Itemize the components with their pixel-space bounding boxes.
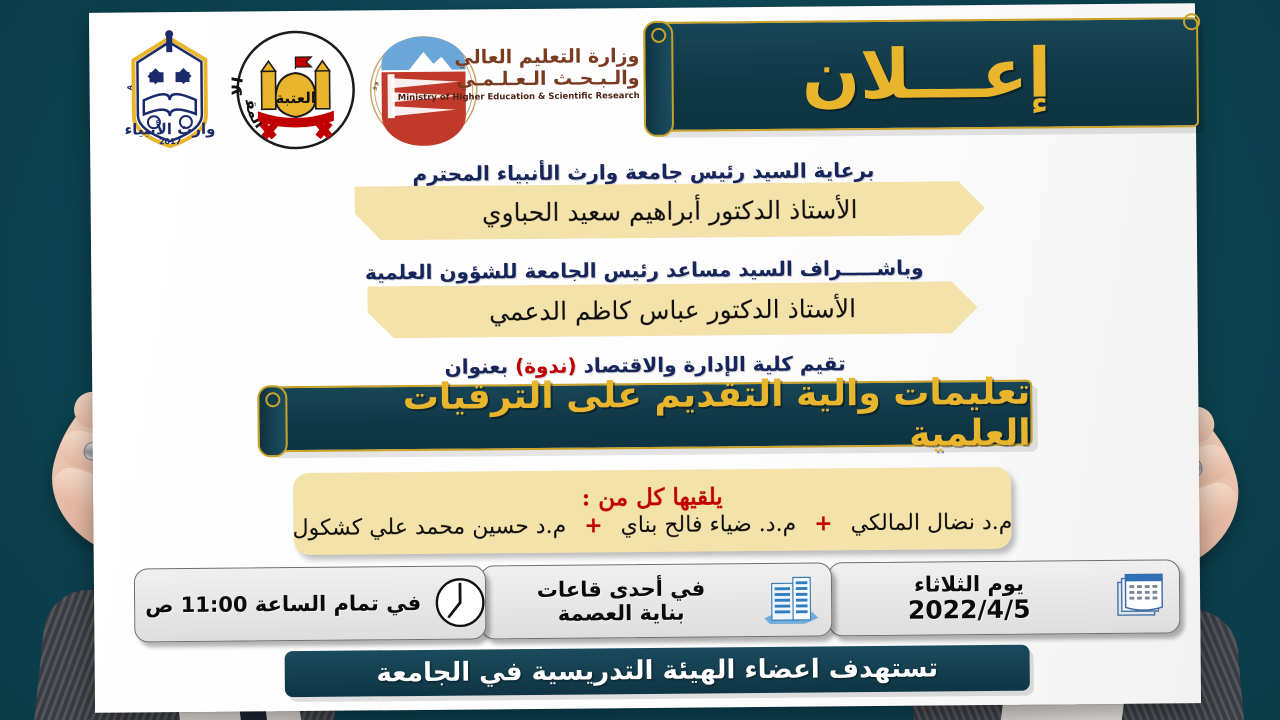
speaker-name: م.د نضال المالكي bbox=[851, 510, 1013, 536]
announcement-banner: إعـــلان bbox=[654, 17, 1199, 132]
patronage-label: برعاية السيد رئيس جامعة وارث الأنبياء ال… bbox=[90, 155, 1196, 189]
ministry-line-3: Ministry of Higher Education & Scientifi… bbox=[398, 92, 640, 104]
speakers-list: م.د نضال المالكي + م.د. ضياء فالح بناي +… bbox=[292, 510, 1012, 541]
university-of-warith-al-anbiyaa-logo: وارث الأنبياء 2017 UNIVERSITY OF WARITH … bbox=[109, 30, 230, 153]
ministry-line-2: والـبـحـث الـعـلـمـي bbox=[398, 68, 640, 92]
announcement-title: إعـــلان bbox=[656, 19, 1197, 130]
audience-text: تستهدف اعضاء الهيئة التدريسية في الجامعة bbox=[376, 653, 938, 688]
patron-name: الأستاذ الدكتور أبراهيم سعيد الحباوي bbox=[482, 195, 858, 227]
speaker-name: م.د. ضياء فالح بناي bbox=[621, 512, 797, 539]
venue-line-2: بناية العصمة bbox=[558, 601, 685, 626]
seminar-title-banner: تعليمات والية التقديم على الترقيات العلم… bbox=[268, 380, 1033, 453]
seminar-title: تعليمات والية التقديم على الترقيات العلم… bbox=[270, 382, 1031, 451]
time-box: في تمام الساعة 11:00 ص bbox=[134, 565, 487, 642]
svg-text:2017: 2017 bbox=[159, 137, 181, 146]
calendar-icon bbox=[1107, 567, 1170, 626]
audience-banner: تستهدف اعضاء الهيئة التدريسية في الجامعة bbox=[285, 645, 1030, 697]
svg-text:UNIVERSITY OF WARITH AL-ANBIYA: UNIVERSITY OF WARITH AL-ANBIYAA bbox=[109, 30, 134, 91]
holy-hussaini-shrine-logo: الامانة العامة المقدسة العتبة bbox=[231, 26, 360, 153]
supervisor-name-plate: الأستاذ الدكتور عباس كاظم الدعمي bbox=[367, 281, 977, 338]
ministry-of-higher-education-logo: وقل رب زدني علما والذين أوتوا العلم درجا… bbox=[367, 32, 640, 146]
supervision-label: وباشـــــراف السيد مساعد رئيس الجامعة لل… bbox=[91, 253, 1197, 287]
venue-line-1: في أحدى قاعات bbox=[537, 576, 706, 602]
ministry-name-text: وزارة التعليم العالي والـبـحـث الـعـلـمـ… bbox=[397, 46, 639, 104]
announcement-poster: وارث الأنبياء 2017 UNIVERSITY OF WARITH … bbox=[89, 3, 1201, 713]
speaker-separator: + bbox=[584, 513, 603, 538]
organizer-suffix: بعنوان bbox=[444, 354, 508, 379]
organizer-highlight: (ندوة) bbox=[515, 354, 577, 379]
venue-box: في أحدى قاعات بناية العصمة bbox=[480, 562, 833, 639]
building-icon bbox=[759, 570, 822, 629]
speakers-heading: يلقيها كل من : bbox=[582, 483, 723, 511]
poster-scene: وارث الأنبياء 2017 UNIVERSITY OF WARITH … bbox=[0, 0, 1280, 720]
date-line-2: 2022/4/5 bbox=[908, 595, 1031, 625]
svg-text:العتبة: العتبة bbox=[275, 89, 316, 107]
time-line-1: في تمام الساعة 11:00 ص bbox=[145, 591, 421, 618]
date-line-1: يوم الثلاثاء bbox=[914, 571, 1024, 596]
supervisor-name: الأستاذ الدكتور عباس كاظم الدعمي bbox=[489, 294, 856, 326]
speaker-name: م.د حسين محمد علي كشكول bbox=[292, 514, 566, 541]
speakers-box: يلقيها كل من : م.د نضال المالكي + م.د. ض… bbox=[293, 467, 1012, 555]
patron-name-plate: الأستاذ الدكتور أبراهيم سعيد الحباوي bbox=[354, 181, 984, 240]
date-box: يوم الثلاثاء 2022/4/5 bbox=[828, 559, 1181, 636]
clock-icon bbox=[429, 573, 492, 632]
svg-text:وارث الأنبياء: وارث الأنبياء bbox=[124, 120, 215, 139]
speaker-separator: + bbox=[814, 511, 833, 536]
